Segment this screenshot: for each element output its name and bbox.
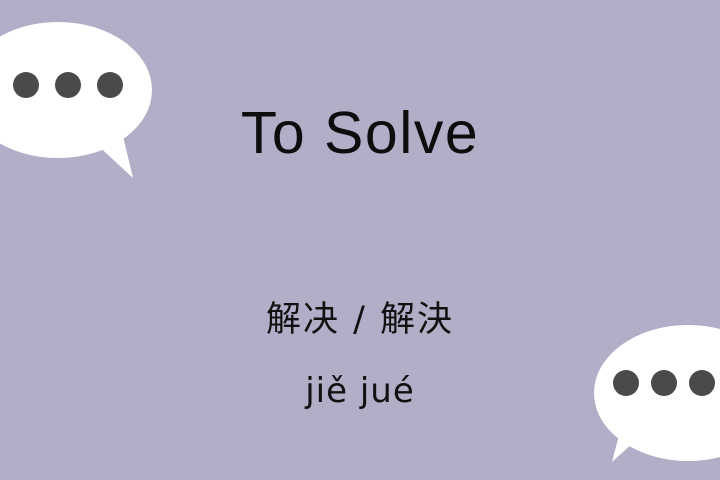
vocabulary-card: To Solve 解决 / 解決 jiě jué [0, 0, 720, 480]
pinyin-text: jiě jué [0, 374, 720, 408]
hanzi-text: 解决 / 解決 [0, 303, 720, 338]
text-stack: To Solve 解决 / 解決 jiě jué [0, 0, 720, 480]
page-title: To Solve [0, 104, 720, 163]
